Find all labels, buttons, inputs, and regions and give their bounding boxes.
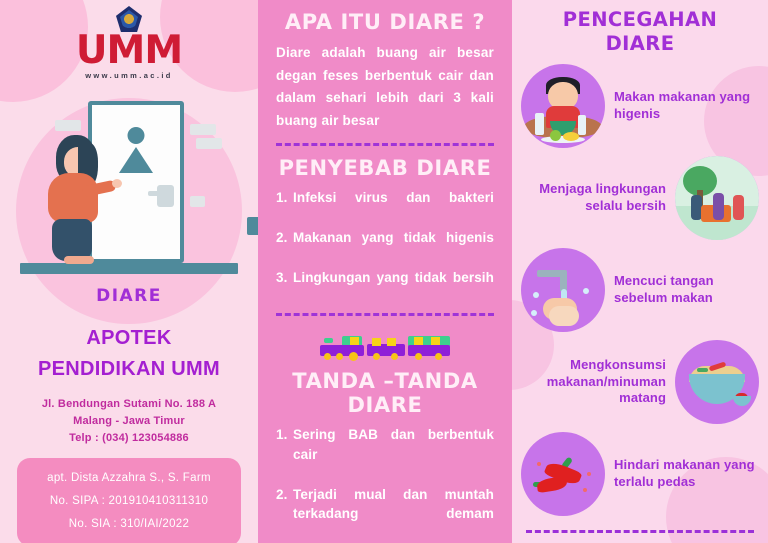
list-number: 1. bbox=[276, 425, 293, 484]
wall-tile bbox=[190, 124, 216, 135]
section-divider bbox=[526, 530, 754, 533]
pharmacist-card: apt. Dista Azzahra S., S. Farm No. SIPA … bbox=[17, 458, 241, 543]
address-street: Jl. Bendungan Sutami No. 188 A bbox=[0, 396, 258, 413]
prevention-label: Mengkonsumsi makanan/minuman matang bbox=[521, 357, 666, 405]
list-number: 2. bbox=[276, 485, 293, 543]
umm-emblem-icon bbox=[116, 6, 142, 32]
list-item: 1. Sering BAB dan berbentuk cair bbox=[276, 425, 494, 484]
list-item: 2. Makanan yang tidak higenis bbox=[276, 228, 494, 267]
pharmacy-sia: No. SIA : 310/IAI/2022 bbox=[23, 513, 235, 536]
prevention-item-3: Mencuci tangan sebelum makan bbox=[512, 248, 768, 332]
section-title-definition: APA ITU DIARE ? bbox=[276, 10, 494, 34]
list-text: Lingkungan yang tidak bersih bbox=[293, 268, 494, 307]
section-divider bbox=[276, 313, 494, 316]
door-panel-tile bbox=[247, 217, 258, 235]
train-locomotive bbox=[320, 336, 364, 356]
symptoms-list: 1. Sering BAB dan berbentuk cair 2. Terj… bbox=[276, 425, 494, 543]
list-item: 2. Terjadi mual dan muntah terkadang dem… bbox=[276, 485, 494, 543]
wall-tile bbox=[196, 138, 222, 149]
definition-body: Diare adalah buang air besar degan feses… bbox=[276, 42, 494, 133]
causes-list: 1. Infeksi virus dan bakteri 2. Makanan … bbox=[276, 188, 494, 307]
section-title-symptoms: TANDA –TANDA DIARE bbox=[276, 369, 494, 417]
pharmacy-name-line1: APOTEK bbox=[0, 323, 258, 354]
list-number: 2. bbox=[276, 228, 293, 267]
wall-tile bbox=[190, 196, 205, 207]
door-handle-icon bbox=[157, 185, 174, 207]
prevention-title-line1: PENCEGAHAN bbox=[512, 8, 768, 32]
pharmacy-name: APOTEK PENDIDIKAN UMM bbox=[0, 323, 258, 385]
section-divider bbox=[276, 143, 494, 146]
list-number: 1. bbox=[276, 188, 293, 227]
pharmacist-name: apt. Dista Azzahra S., S. Farm bbox=[23, 467, 235, 490]
prevention-label: Menjaga lingkungan selalu bersih bbox=[521, 181, 666, 213]
boy-eating-healthy-food-icon bbox=[521, 64, 605, 148]
toy-train-icon bbox=[276, 330, 494, 356]
pharmacy-address: Jl. Bendungan Sutami No. 188 A Malang - … bbox=[0, 396, 258, 447]
restroom-sign-icon bbox=[128, 127, 145, 144]
panel-middle-info: APA ITU DIARE ? Diare adalah buang air b… bbox=[258, 0, 512, 543]
umm-logo: UMM www.umm.ac.id bbox=[0, 0, 258, 80]
list-number: 3. bbox=[276, 268, 293, 307]
train-car bbox=[408, 336, 450, 356]
address-phone: Telp : (034) 123054886 bbox=[0, 430, 258, 447]
list-text: Infeksi virus dan bakteri bbox=[293, 188, 494, 227]
wall-tile bbox=[55, 120, 81, 131]
list-text: Makanan yang tidak higenis bbox=[293, 228, 494, 267]
floor-shape bbox=[20, 263, 238, 274]
illustration-caption: DIARE bbox=[0, 286, 258, 306]
legs-shape bbox=[52, 219, 92, 261]
umm-logo-text: UMM bbox=[0, 33, 258, 69]
umm-website-url: www.umm.ac.id bbox=[0, 71, 258, 80]
hand-shape bbox=[112, 179, 122, 188]
list-text: Sering BAB dan berbentuk cair bbox=[293, 425, 494, 484]
list-text: Terjadi mual dan muntah terkadang demam bbox=[293, 485, 494, 543]
list-item: 3. Lingkungan yang tidak bersih bbox=[276, 268, 494, 307]
panel-left-cover: UMM www.umm.ac.id bbox=[0, 0, 258, 543]
pharmacy-name-line2: PENDIDIKAN UMM bbox=[0, 354, 258, 385]
prevention-label: Mencuci tangan sebelum makan bbox=[614, 273, 759, 305]
prevention-item-2: Menjaga lingkungan selalu bersih bbox=[512, 156, 768, 240]
prevention-item-1: Makan makanan yang higenis bbox=[512, 64, 768, 148]
prevention-label: Hindari makanan yang terlalu pedas bbox=[614, 457, 759, 489]
list-item: 1. Infeksi virus dan bakteri bbox=[276, 188, 494, 227]
prevention-label: Makan makanan yang higenis bbox=[614, 89, 759, 121]
woman-figure bbox=[42, 135, 108, 263]
section-title-causes: PENYEBAB DIARE bbox=[276, 156, 494, 180]
torso-shape bbox=[48, 173, 98, 223]
panel-right-prevention: PENCEGAHAN DIARE Makan makanan yang hige… bbox=[512, 0, 768, 543]
diarrhea-illustration bbox=[0, 92, 258, 282]
train-car bbox=[367, 338, 405, 356]
prevention-title-line2: DIARE bbox=[512, 32, 768, 56]
prevention-item-5: Hindari makanan yang terlalu pedas bbox=[512, 432, 768, 516]
prevention-title: PENCEGAHAN DIARE bbox=[512, 0, 768, 56]
pharmacist-sipa: No. SIPA : 201910410311310 bbox=[23, 490, 235, 513]
people-cleaning-environment-icon bbox=[675, 156, 759, 240]
cooked-food-bowl-icon bbox=[675, 340, 759, 424]
washing-hands-icon bbox=[521, 248, 605, 332]
prevention-item-4: Mengkonsumsi makanan/minuman matang bbox=[512, 340, 768, 424]
chili-pepper-icon bbox=[521, 432, 605, 516]
restroom-sign-body bbox=[119, 147, 153, 173]
foot-shape bbox=[64, 256, 94, 264]
brochure-page: UMM www.umm.ac.id bbox=[0, 0, 768, 543]
address-city: Malang - Jawa Timur bbox=[0, 413, 258, 430]
